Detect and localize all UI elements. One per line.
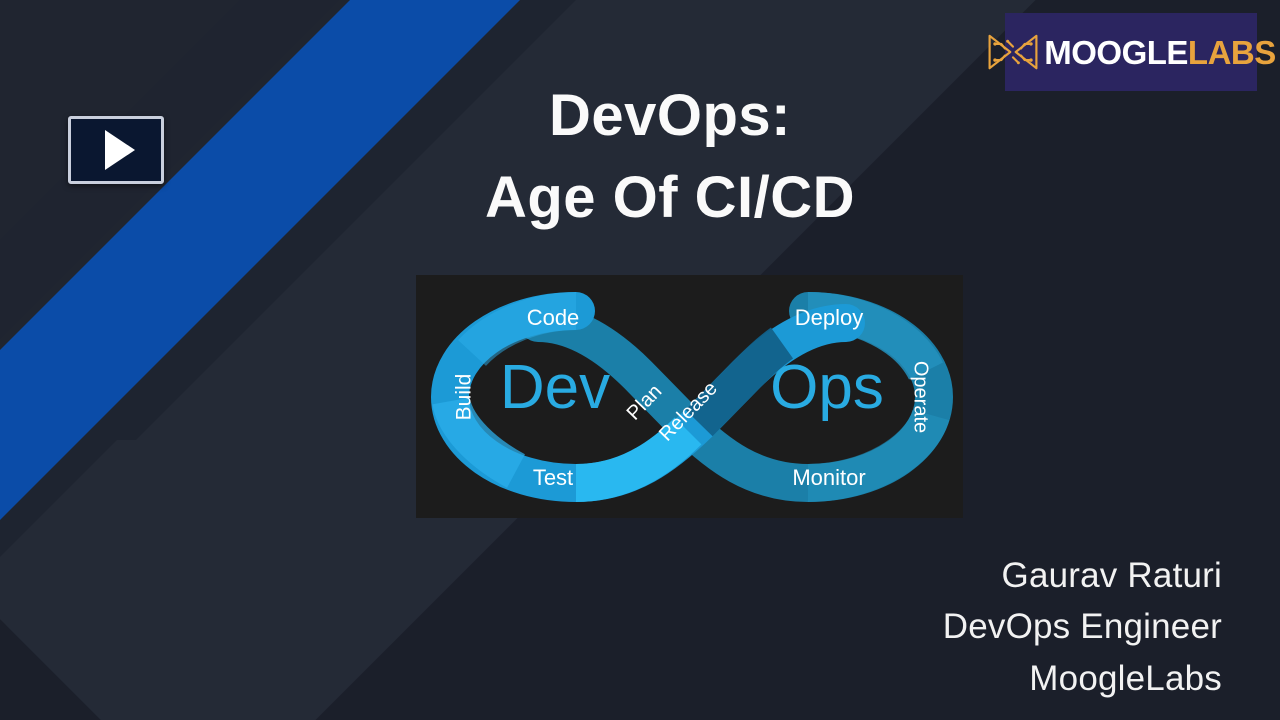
ops-center-label: Ops <box>770 353 884 422</box>
presenter-name: Gaurav Raturi <box>943 550 1222 602</box>
play-video-button[interactable] <box>68 116 164 184</box>
presenter-role: DevOps Engineer <box>943 601 1222 653</box>
devops-infinity-diagram: Dev Ops Build Code Plan Test Release Dep… <box>416 275 963 518</box>
devops-loop-graphic: Dev Ops Build Code Plan Test Release Dep… <box>416 275 963 518</box>
stage-label-code: Code <box>527 305 580 330</box>
presentation-slide: MOOGLELABS DevOps: Age Of CI/CD <box>0 0 1280 720</box>
moogle-labs-logo[interactable]: MOOGLELABS <box>1005 13 1257 91</box>
title-line-2: Age Of CI/CD <box>340 157 1000 239</box>
dev-center-label: Dev <box>500 353 610 422</box>
stage-label-operate: Operate <box>910 361 932 433</box>
stage-label-build: Build <box>453 374 476 421</box>
play-triangle-icon <box>105 130 135 170</box>
stage-label-test: Test <box>533 465 573 490</box>
stage-label-monitor: Monitor <box>792 465 865 490</box>
logo-name-primary: MOOGLE <box>1044 34 1188 71</box>
stage-label-deploy: Deploy <box>795 305 863 330</box>
slide-title: DevOps: Age Of CI/CD <box>340 75 1000 240</box>
title-line-1: DevOps: <box>340 75 1000 157</box>
logo-wordmark: MOOGLELABS <box>1044 36 1276 69</box>
bowtie-circuit-icon <box>986 30 1040 74</box>
logo-name-secondary: LABS <box>1188 34 1276 71</box>
presenter-credits: Gaurav Raturi DevOps Engineer MoogleLabs <box>943 550 1222 705</box>
presenter-company: MoogleLabs <box>943 653 1222 705</box>
